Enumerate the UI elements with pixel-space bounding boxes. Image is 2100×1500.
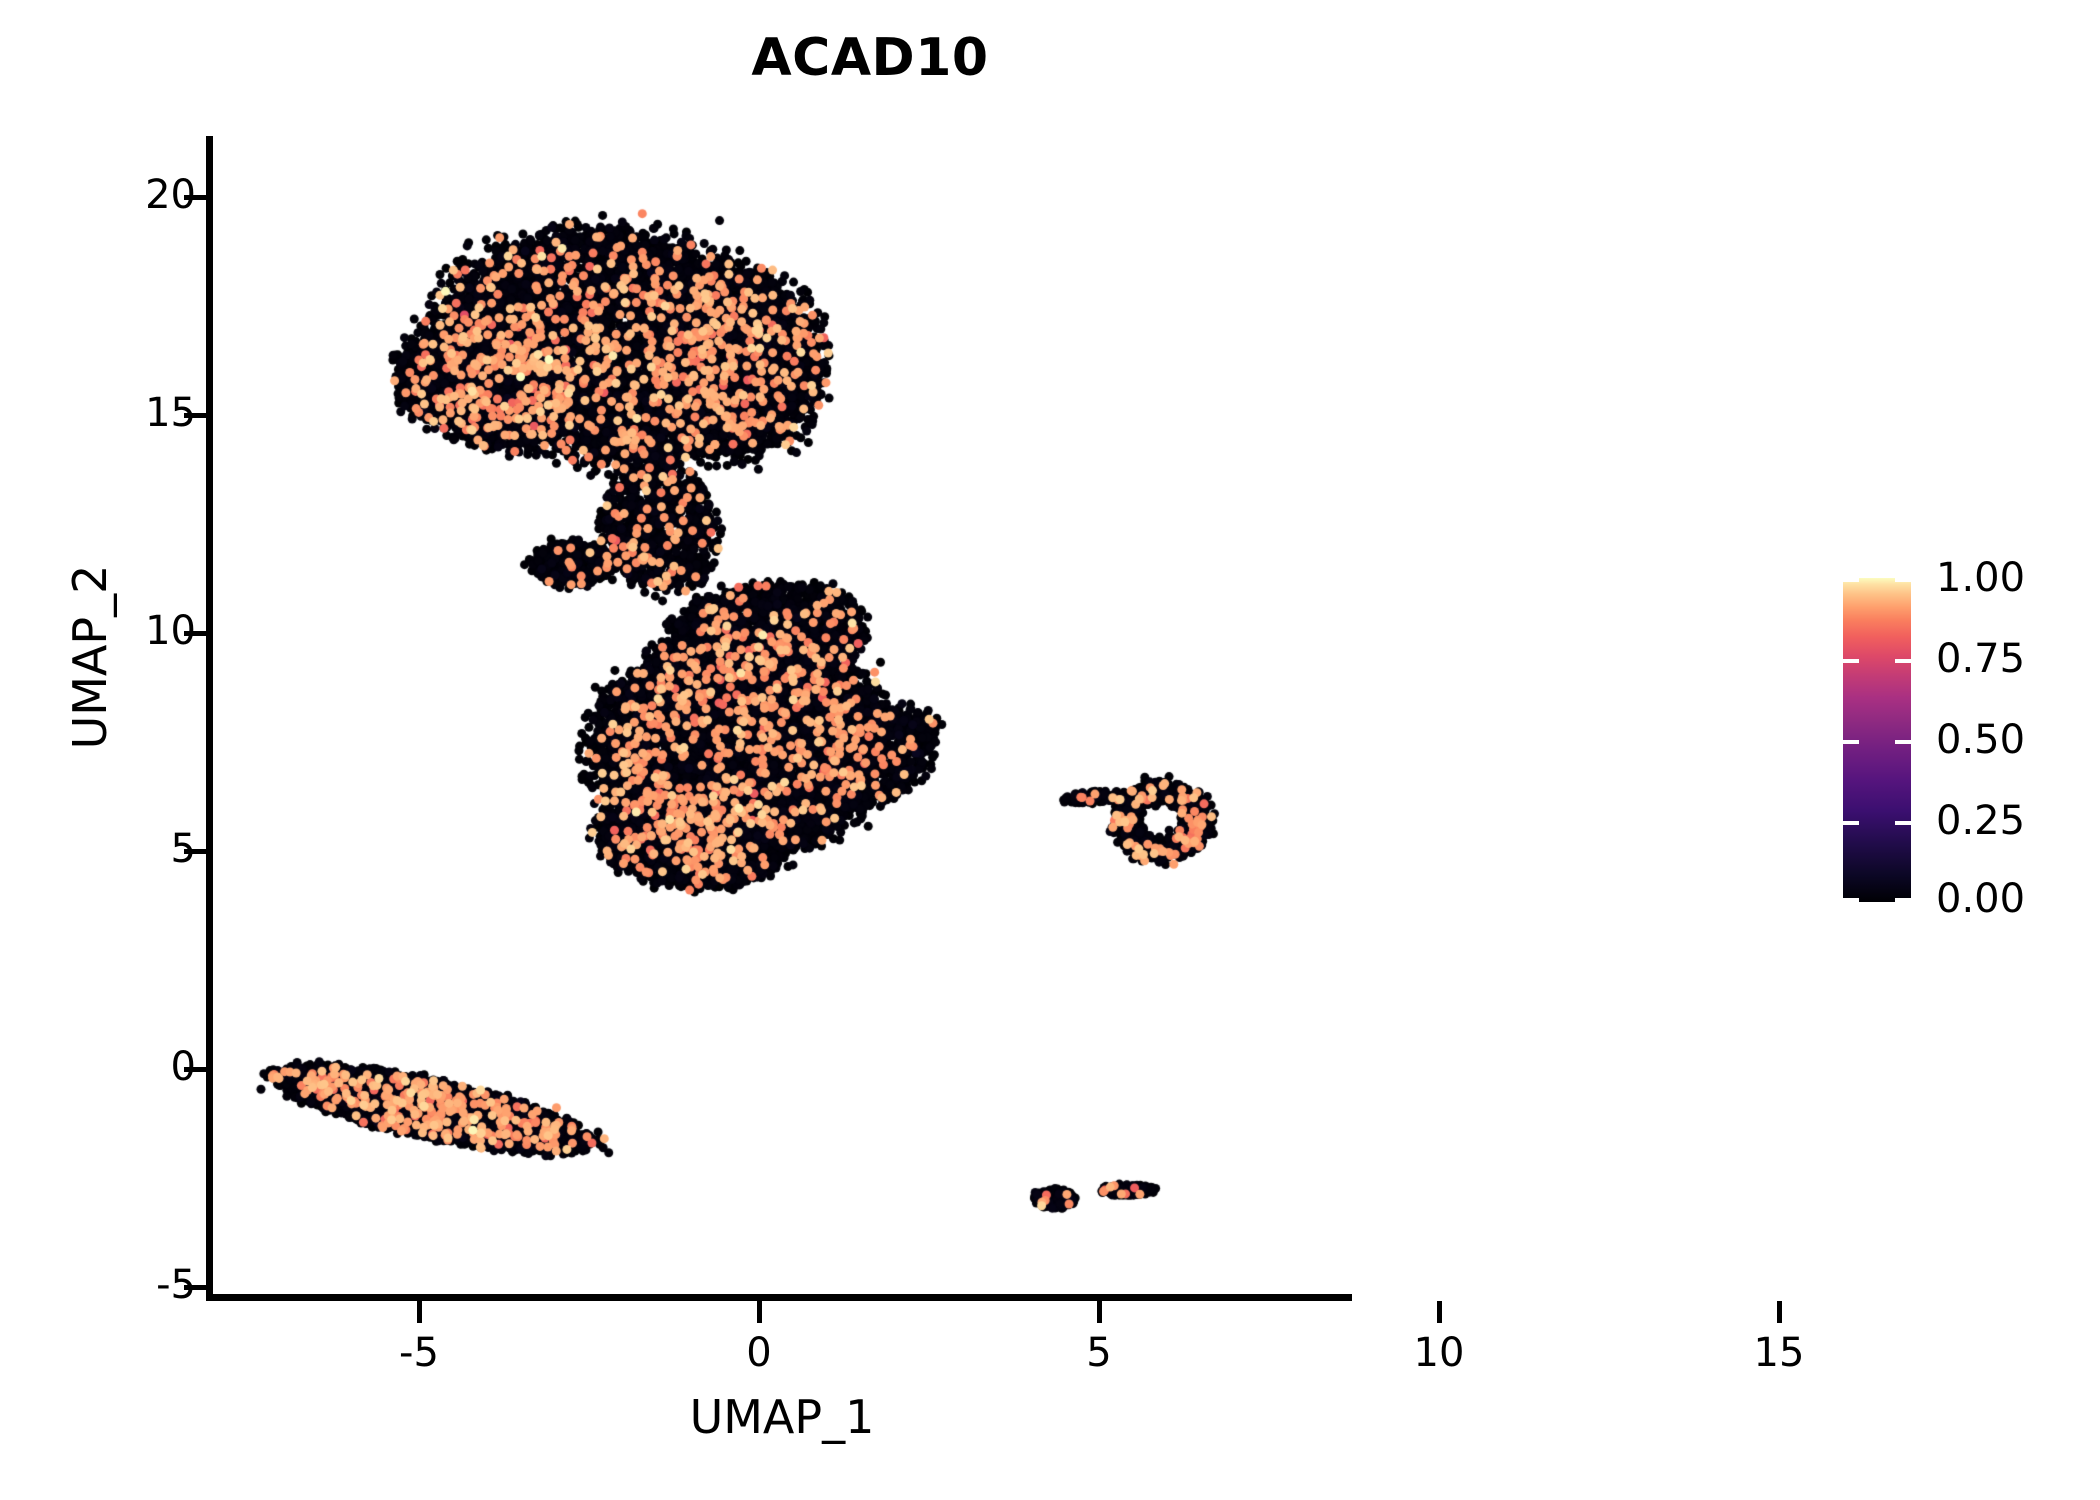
colorbar-label-000: 0.00 [1936,876,2025,922]
y-ticklabel-20: 20 [145,172,196,218]
x-tick-minus5 [417,1301,422,1323]
x-axis-spine [206,1294,1352,1301]
x-ticklabel-15: 15 [1719,1330,1839,1376]
x-ticklabel-5: 5 [1039,1330,1159,1376]
x-tick-0 [757,1301,762,1323]
y-ticklabel-10: 10 [145,608,196,654]
x-tick-5 [1097,1301,1102,1323]
colorbar-tick-000-right [1895,898,1911,902]
x-ticklabel-minus5: -5 [359,1330,479,1376]
figure-canvas: ACAD10 20 15 10 5 0 -5 -5 0 5 10 15 UMAP… [0,0,2100,1500]
y-axis-label: UMAP_2 [63,477,117,837]
colorbar-tick-050-right [1895,740,1911,744]
x-tick-10 [1437,1301,1442,1323]
y-ticklabel-5: 5 [171,826,196,872]
x-ticklabel-0: 0 [699,1330,819,1376]
scatter-points-layer [212,140,1352,1297]
colorbar-tick-100-left [1843,578,1859,582]
y-ticklabel-0: 0 [171,1044,196,1090]
colorbar-label-050: 0.50 [1936,717,2025,763]
colorbar-label-025: 0.25 [1936,798,2025,844]
y-axis-spine [206,136,213,1301]
colorbar-label-100: 1.00 [1936,555,2025,601]
y-ticklabel-minus5: -5 [156,1262,196,1308]
colorbar-tick-075-left [1843,659,1859,663]
colorbar-tick-000-left [1843,898,1859,902]
x-ticklabel-10: 10 [1379,1330,1499,1376]
colorbar-tick-075-right [1895,659,1911,663]
colorbar-label-075: 0.75 [1936,636,2025,682]
colorbar [1843,578,1911,902]
x-axis-label: UMAP_1 [212,1390,1352,1444]
x-tick-15 [1777,1301,1782,1323]
colorbar-tick-025-left [1843,821,1859,825]
colorbar-tick-100-right [1895,578,1911,582]
y-ticklabel-15: 15 [145,390,196,436]
colorbar-tick-050-left [1843,740,1859,744]
colorbar-tick-025-right [1895,821,1911,825]
chart-title: ACAD10 [0,28,1740,88]
